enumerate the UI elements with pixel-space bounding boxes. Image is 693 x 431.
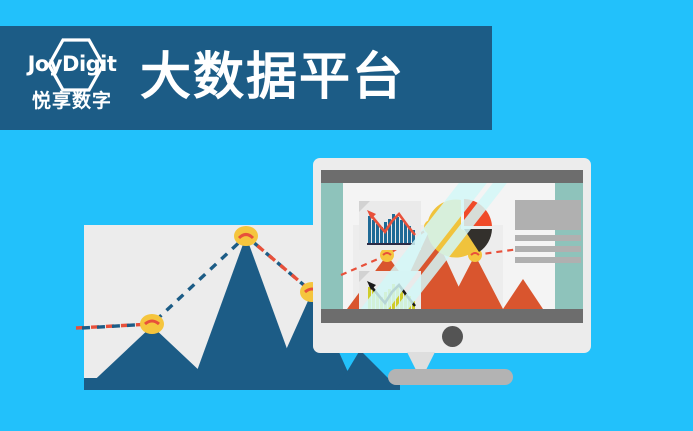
monitor-bezel-bottom <box>321 309 583 323</box>
text-line <box>515 235 581 241</box>
page-fold-corner-icon <box>359 201 370 212</box>
axis-line <box>367 243 415 245</box>
monitor-screen <box>321 183 583 309</box>
pie-slice-red <box>464 199 492 226</box>
monitor-illustration <box>313 158 591 353</box>
dashboard-canvas <box>343 183 555 309</box>
brand-logo: JoyDigit 悦享数字 <box>16 36 128 120</box>
page-title: 大数据平台 <box>140 52 405 103</box>
text-line <box>515 257 581 263</box>
poster-canvas: JoyDigit 悦享数字 大数据平台 <box>0 0 693 431</box>
monitor-bezel-top <box>321 170 583 183</box>
widget-bar-line-chart-blue <box>359 201 421 250</box>
image-placeholder <box>515 200 581 230</box>
monitor-stand-base <box>388 369 513 385</box>
page-fold-corner-icon <box>359 271 370 282</box>
brand-wordmark: JoyDigit <box>16 54 128 75</box>
brand-subtitle: 悦享数字 <box>16 92 128 111</box>
widget-bar-line-chart-yellow <box>359 271 421 309</box>
widget-pie-chart <box>431 198 493 260</box>
power-indicator-icon <box>442 326 463 347</box>
text-line <box>515 246 581 252</box>
header-banner: JoyDigit 悦享数字 大数据平台 <box>0 26 492 130</box>
screen-side-panel-left <box>321 183 343 309</box>
widget-content-placeholder <box>515 200 581 263</box>
